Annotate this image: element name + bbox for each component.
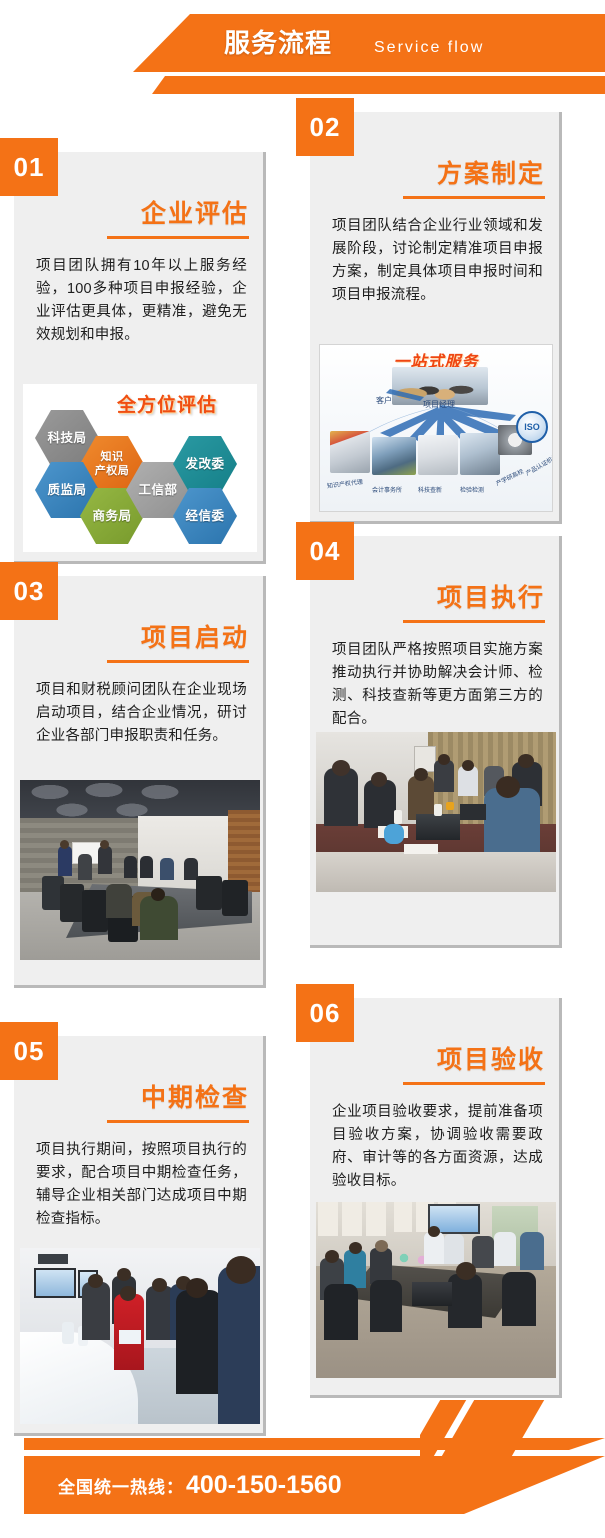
photo-visitor-head-foreground bbox=[226, 1256, 256, 1284]
oss-label-3: 检验检测 bbox=[460, 485, 484, 494]
photo-person-standing-2 bbox=[98, 846, 112, 874]
card-description-06: 企业项目验收要求，提前准备项目验收方案，协调验收需要政府、审计等的各方面资源，达… bbox=[310, 1085, 559, 1203]
oss-photo-inspection bbox=[460, 433, 500, 475]
oss-label-1: 会计事务所 bbox=[372, 485, 402, 494]
photo-floor-light bbox=[316, 852, 556, 892]
photo-person-green-jacket bbox=[140, 896, 178, 940]
photo-head-foreground bbox=[496, 776, 520, 798]
step-card-02[interactable]: 方案制定 项目团队结合企业行业领域和发展阶段，讨论制定精准项目申报方案，制定具体… bbox=[310, 112, 562, 524]
step-card-05[interactable]: 中期检查 项目执行期间，按照项目执行的要求，配合项目中期检查任务，辅导企业相关部… bbox=[14, 1036, 266, 1436]
hexagon-diagram-title: 全方位评估 bbox=[117, 390, 217, 417]
oss-photo-accounting bbox=[372, 437, 416, 475]
oss-photo-tech-search bbox=[418, 435, 458, 475]
card-title-05: 中期检查 bbox=[14, 1078, 263, 1114]
service-flow-infographic: 服务流程 Service flow 企业评估 项目团队拥有10年以上服务经验，1… bbox=[0, 0, 605, 1538]
step-badge-02: 02 bbox=[296, 98, 354, 156]
card-title-04: 项目执行 bbox=[310, 578, 559, 614]
card-description-02: 项目团队结合企业行业领域和发展阶段，讨论制定精准项目申报方案，制定具体项目申报时… bbox=[310, 199, 559, 317]
hotline-number: 400-150-1560 bbox=[186, 1471, 342, 1499]
card-title-06: 项目验收 bbox=[310, 1040, 559, 1076]
photo-attendee-head-4 bbox=[428, 1226, 440, 1237]
photo-chair-3 bbox=[82, 890, 108, 932]
photo-counter-item-1 bbox=[62, 1322, 74, 1344]
photo-visitor-head-1 bbox=[88, 1274, 103, 1288]
photo-person-seated-1 bbox=[78, 854, 92, 880]
photo-attendee-8 bbox=[520, 1232, 544, 1270]
oss-node-customer: 客户 bbox=[376, 395, 392, 406]
photo-visitor-head-2 bbox=[117, 1268, 131, 1281]
photo-person-seated-4 bbox=[160, 858, 174, 880]
photo-bag-blue bbox=[384, 824, 404, 844]
card-title-03: 项目启动 bbox=[14, 618, 263, 654]
card-description-01: 项目团队拥有10年以上服务经验，100多种项目申报经验，企业评估更具体，更精准，… bbox=[14, 239, 263, 357]
one-stop-service-diagram: 一站式服务 bbox=[319, 344, 553, 512]
photo-person-seated-2 bbox=[124, 856, 137, 878]
photo-head-right-back bbox=[518, 754, 534, 768]
card-title-01: 企业评估 bbox=[14, 194, 263, 230]
photo-person-standing-1 bbox=[58, 846, 72, 876]
photo-item-orange bbox=[446, 802, 454, 810]
photo-laptop-open bbox=[412, 1282, 452, 1306]
photo-visitor-head-red bbox=[120, 1286, 136, 1301]
oss-label-2: 科技查新 bbox=[418, 485, 442, 494]
photo-attendee-head-1 bbox=[325, 1250, 339, 1263]
header-banner-accent-stripe bbox=[0, 76, 605, 94]
oss-iso-seal: ISO bbox=[516, 411, 548, 443]
page-footer: 全国统一热线：400-150-1560 bbox=[0, 1398, 605, 1538]
photo-head-mid bbox=[414, 768, 428, 781]
photo-person-seated-3 bbox=[140, 856, 153, 878]
step-badge-04: 04 bbox=[296, 522, 354, 580]
hotline-label: 全国统一热线： bbox=[58, 1478, 184, 1497]
photo-cup-1 bbox=[394, 810, 402, 824]
photo-wall-screen-1 bbox=[34, 1268, 76, 1298]
photo-attendee-6 bbox=[472, 1236, 494, 1268]
photo-person-head-green bbox=[151, 888, 165, 901]
photo-attendee-2 bbox=[344, 1250, 366, 1288]
photo-conference-acceptance bbox=[316, 1202, 556, 1378]
photo-chair-front-1 bbox=[370, 1280, 402, 1332]
photo-person-head-1 bbox=[60, 840, 69, 849]
photo-head-back-a bbox=[438, 754, 450, 765]
photo-attendee-head-2 bbox=[349, 1242, 362, 1254]
photo-person-back-1 bbox=[106, 884, 132, 918]
hotline-block: 全国统一热线：400-150-1560 bbox=[58, 1468, 342, 1505]
photo-head-back-b bbox=[462, 760, 474, 771]
photo-laptop-1 bbox=[416, 814, 460, 840]
photo-chair-5 bbox=[196, 876, 222, 910]
photo-papers-2 bbox=[404, 844, 438, 854]
photo-visitor-head-black bbox=[186, 1278, 208, 1298]
step-badge-05: 05 bbox=[0, 1022, 58, 1080]
photo-chair-6 bbox=[222, 880, 248, 916]
photo-visitor-head-3 bbox=[152, 1278, 167, 1292]
page-title: 服务流程 bbox=[224, 23, 332, 63]
card-title-02: 方案制定 bbox=[310, 154, 559, 190]
photo-head-front-2 bbox=[456, 1262, 476, 1280]
photo-person-left-1 bbox=[324, 768, 358, 826]
photo-attendee-3 bbox=[370, 1248, 392, 1284]
oss-node-project-manager: 项目经理 bbox=[423, 399, 455, 410]
page-subtitle: Service flow bbox=[374, 36, 484, 60]
photo-cup-2 bbox=[434, 804, 442, 816]
footer-accent-stripe bbox=[24, 1438, 605, 1450]
step-badge-06: 06 bbox=[296, 984, 354, 1042]
photo-attendee-7 bbox=[494, 1232, 516, 1266]
photo-chair-front-4 bbox=[502, 1272, 536, 1326]
photo-attendee-5 bbox=[444, 1234, 464, 1264]
photo-meeting-room bbox=[20, 780, 260, 960]
photo-person-head-2 bbox=[100, 840, 109, 849]
photo-head-left-1 bbox=[332, 760, 350, 776]
step-card-01[interactable]: 企业评估 项目团队拥有10年以上服务经验，100多种项目申报经验，企业评估更具体… bbox=[14, 152, 266, 564]
photo-attendee-head-3 bbox=[375, 1240, 388, 1252]
photo-chair-front-3 bbox=[324, 1284, 358, 1340]
photo-person-foreground bbox=[484, 788, 540, 852]
photo-visitor-1 bbox=[82, 1282, 110, 1340]
photo-chair-front-2 bbox=[448, 1274, 482, 1328]
photo-visitor-black-jacket bbox=[176, 1290, 222, 1394]
card-description-04: 项目团队严格按照项目实施方案推动执行并协助解决会计师、检测、科技查新等更方面第三… bbox=[310, 623, 559, 741]
step-badge-01: 01 bbox=[0, 138, 58, 196]
step-card-03[interactable]: 项目启动 项目和财税顾问团队在企业现场启动项目，结合企业情况，研讨企业各部门申报… bbox=[14, 576, 266, 988]
step-card-06[interactable]: 项目验收 企业项目验收要求，提前准备项目验收方案，协调验收需要政府、审计等的各方… bbox=[310, 998, 562, 1398]
assessment-hexagon-diagram: 全方位评估 科技局 知识产权局 质监局 商务局 工信部 发改委 经信委 bbox=[23, 384, 257, 552]
step-badge-03: 03 bbox=[0, 562, 58, 620]
photo-person-left-2 bbox=[364, 780, 396, 828]
photo-brochure bbox=[119, 1330, 141, 1344]
photo-chair-2 bbox=[60, 884, 84, 922]
card-description-03: 项目和财税顾问团队在企业现场启动项目，结合企业情况，研讨企业各部门申报职责和任务… bbox=[14, 663, 263, 758]
card-description-05: 项目执行期间，按照项目执行的要求，配合项目中期检查任务，辅导企业相关部门达成项目… bbox=[14, 1123, 263, 1241]
photo-head-left-2 bbox=[371, 772, 387, 787]
photo-laptop-2 bbox=[460, 804, 486, 820]
oss-photo-ip bbox=[330, 431, 370, 473]
photo-working-laptops bbox=[316, 732, 556, 892]
photo-signage bbox=[38, 1254, 68, 1264]
step-card-04[interactable]: 项目执行 项目团队严格按照项目实施方案推动执行并协助解决会计师、检测、科技查新等… bbox=[310, 536, 562, 948]
